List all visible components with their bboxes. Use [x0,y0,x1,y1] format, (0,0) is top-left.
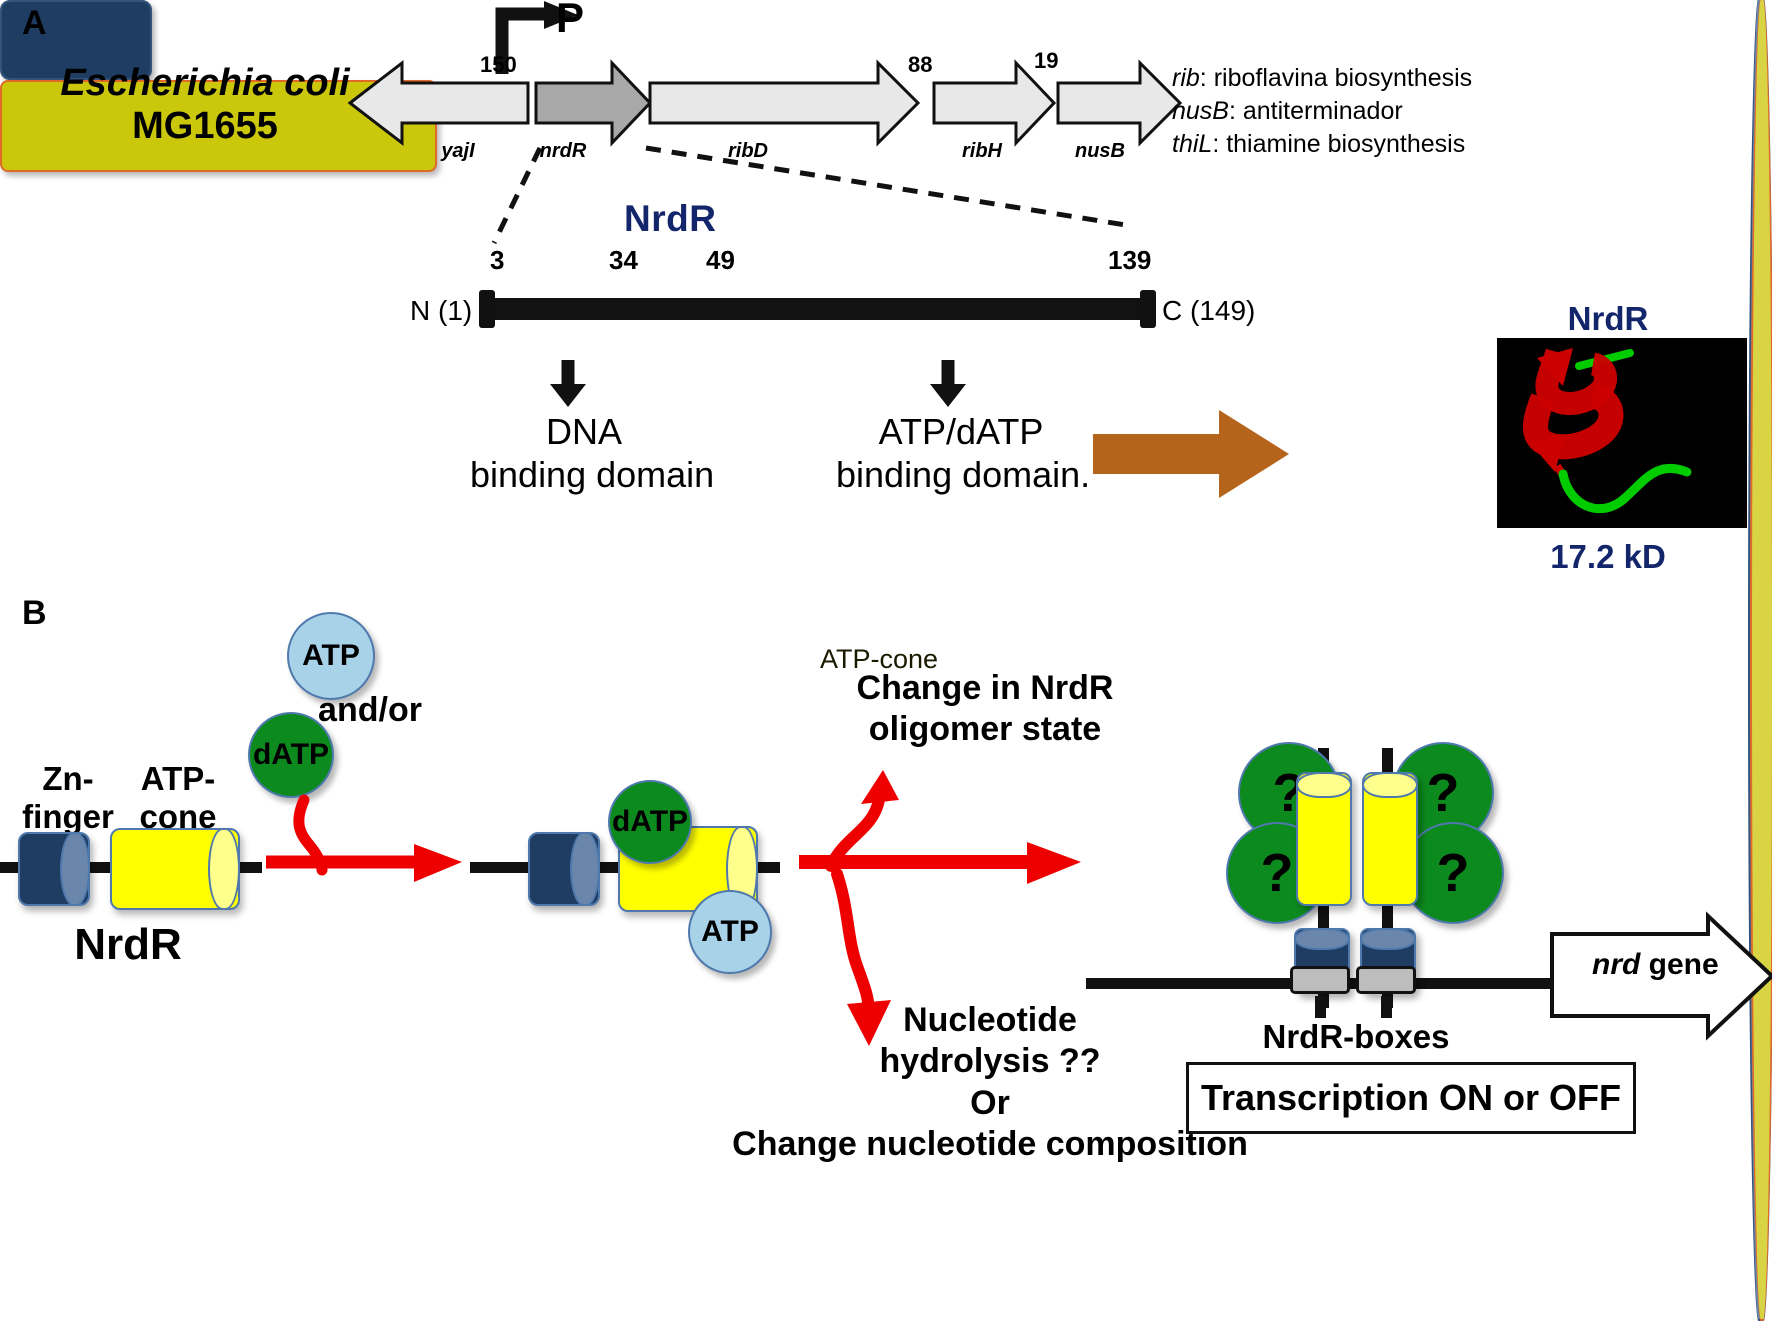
ligand-connector-label: and/or [300,690,440,731]
monomer-zn-cap [60,832,90,906]
atp-ligand-circle: ATP [287,612,375,700]
bound-zn-cap [570,832,600,906]
dna-binding-line1: DNA [470,410,698,453]
atp-binding-line1: ATP/dATP [836,410,1086,453]
hydrolysis-line1: Nucleotide [690,1000,1290,1041]
nrdr-monomer-label: NrdR [38,920,218,970]
atp-cone-domain: ATP-cone [0,80,437,172]
binding-arrow-1-icon [262,796,472,906]
dna-binding-line2: binding domain [470,453,698,496]
oligomer-atp-cone-1-cap [1296,772,1352,798]
oligomer-atp-cone-2-cap [1362,772,1418,798]
datp-ligand-label: dATP [253,738,329,772]
monomer-atp-cone-cylinder [110,828,240,910]
bound-datp-circle: dATP [608,780,692,864]
atp-cone-subunit-label: ATP- cone [108,760,248,836]
oligomer-question-label-2: ? [1261,842,1294,904]
oligomer-question-label-3: ? [1427,762,1460,824]
oligomer-outcome-text: Change in NrdR oligomer state [760,668,1210,751]
nrdr-box-1 [1290,966,1350,994]
oligomer-zn-finger-1-cap [1294,928,1350,950]
nrd-gene-suffix: gene [1640,948,1718,981]
monomer-zn-finger-cylinder [18,832,90,906]
nrdr-box-tick-1 [1315,996,1326,1018]
oligomer-outcome-line1: Change in NrdR [760,668,1210,709]
nrdr-boxes-label: NrdR-boxes [1226,1018,1486,1056]
oligomer-atp-cone-2 [1362,772,1418,906]
bound-datp-label: dATP [612,805,688,839]
nrdr-box-2 [1356,966,1416,994]
protein-structure-image [1497,338,1747,528]
oligomer-zn-finger-2-cap [1360,928,1416,950]
nrdr-box-tick-2 [1381,996,1392,1018]
atp-ligand-label: ATP [302,639,360,673]
bound-atp-label: ATP [701,915,759,949]
nrd-gene-label: nrd gene [1592,948,1719,982]
bound-zn-finger-cylinder [528,832,600,906]
dna-domain-arrow-icon [545,360,591,408]
transcription-status-box: Transcription ON or OFF [1186,1062,1636,1134]
structure-title: NrdR [1468,300,1748,338]
molecular-weight-label: 17.2 kD [1468,538,1748,576]
oligomer-outcome-line2: oligomer state [760,709,1210,750]
oligomer-atp-cone-1 [1296,772,1352,906]
bound-atp-circle: ATP [688,890,772,974]
panel-b-letter: B [22,594,47,633]
atp-binding-line2: binding domain. [836,453,1086,496]
nrd-gene-name: nrd [1592,948,1640,981]
atp-domain-arrow-icon [925,360,971,408]
dna-binding-caption: DNA binding domain [470,410,698,496]
atp-cone-subunit-line1: ATP- [108,760,248,798]
oligomer-question-label-4: ? [1437,842,1470,904]
to-structure-arrow-icon [1093,410,1293,500]
monomer-atp-cap [208,828,240,910]
protein-ribbon-render [1497,338,1747,528]
atp-binding-caption: ATP/dATP binding domain. [836,410,1086,496]
transcription-status-label: Transcription ON or OFF [1201,1077,1621,1119]
